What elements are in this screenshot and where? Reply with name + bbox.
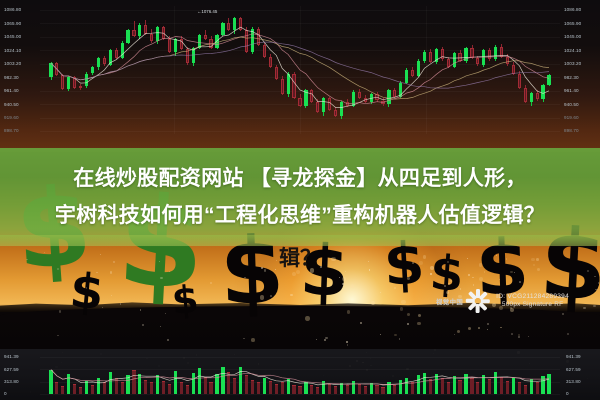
bokeh-particle: [567, 333, 569, 335]
watermark-brand-label: 视觉中国: [436, 297, 463, 306]
bokeh-particle: [160, 277, 162, 279]
bokeh-particle-large: [400, 307, 404, 311]
moving-average-line: [51, 42, 549, 88]
bokeh-particle: [210, 282, 212, 284]
bokeh-particle: [511, 333, 513, 335]
dollar-sign-icon: $: [171, 285, 200, 317]
bokeh-particle: [444, 285, 445, 286]
bokeh-particle-large: [305, 316, 310, 321]
headline-line-2: 宇树科技如何用“工程化思维”重构机器人估值逻辑？: [0, 197, 600, 234]
bokeh-particle: [290, 294, 292, 296]
moving-average-line: [51, 34, 549, 104]
watermark-license: 500px Signature RF: [496, 301, 569, 309]
headline-text: 在线炒股配资网站 【寻龙探金】从四足到人形， 宇树科技如何用“工程化思维”重构机…: [0, 160, 600, 234]
bokeh-particle: [57, 335, 59, 337]
bokeh-particle: [487, 323, 489, 325]
watermark-id: ID: VCG211284289394: [496, 293, 569, 301]
bokeh-particle: [102, 307, 103, 308]
bokeh-particle: [380, 334, 381, 335]
price-chart-moving-averages: [0, 0, 600, 152]
bokeh-particle-large: [292, 272, 296, 276]
bokeh-particle: [346, 341, 348, 343]
bokeh-particle-large: [351, 284, 354, 287]
bokeh-particle: [430, 273, 432, 275]
headline-overflow-text: 辑？: [0, 246, 600, 272]
bokeh-particle: [160, 326, 161, 327]
bokeh-particle-large: [342, 277, 346, 281]
starburst-icon: [465, 288, 491, 314]
bokeh-particle: [399, 338, 400, 339]
bokeh-particle: [487, 329, 488, 330]
bokeh-particle-large: [347, 310, 351, 314]
bokeh-particle-large: [407, 313, 410, 316]
bokeh-particle-large: [260, 295, 265, 300]
bokeh-particle-large: [468, 327, 471, 330]
price-candlestick-chart: 1086.801065.901045.001024.101003.20982.3…: [0, 0, 600, 152]
bokeh-particle-large: [251, 338, 255, 342]
volume-chart: 941.39627.59313.800 941.39627.59313.800: [0, 349, 600, 400]
bokeh-particle: [407, 323, 409, 325]
bokeh-particle: [111, 295, 112, 296]
bokeh-particle: [598, 282, 599, 283]
volume-chart-average-line: [0, 349, 600, 400]
image-canvas: $$$$$$$$$$ 1086.801065.901045.001024.101…: [0, 0, 600, 400]
bokeh-particle: [339, 277, 340, 278]
bokeh-particle: [167, 339, 169, 341]
price-chart-annotation: ←1076.45: [197, 9, 217, 14]
headline-line-1: 在线炒股配资网站 【寻龙探金】从四足到人形，: [0, 160, 600, 197]
volume-average-line: [51, 370, 549, 385]
dollar-sign-icon: $: [68, 273, 105, 313]
bokeh-particle: [380, 292, 381, 293]
bokeh-particle: [454, 334, 455, 335]
bokeh-particle-large: [478, 327, 480, 329]
bokeh-particle-large: [448, 283, 450, 285]
bokeh-particle-large: [394, 287, 396, 289]
watermark: 视觉中国 ID: VCG211284289394 500px Signature…: [436, 288, 569, 314]
bokeh-particle: [519, 281, 521, 283]
